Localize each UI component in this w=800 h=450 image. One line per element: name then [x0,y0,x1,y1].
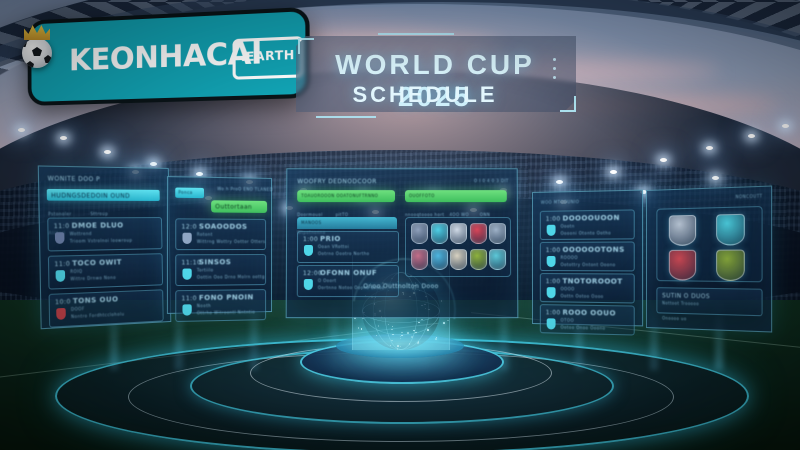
globe-particle [361,328,363,330]
match-time: 12:0 [181,222,196,232]
panel-main-dashboard[interactable]: WOOFRY DEDNODCOOR O I 0 4 0 3 DIT TOAUOR… [286,168,519,318]
globe-particle [436,337,438,339]
match-subtitle: Ooan VRottoi [318,244,349,251]
globe-particle [401,332,403,334]
match-time: 1:00 [546,246,561,256]
globe-particle [392,334,394,336]
match-detail: Oottin Ooo Drno Molrn oottg [197,274,265,281]
match-subtitle: Tortiilo [197,267,214,274]
match-time: 1:00 [546,215,561,225]
match-row[interactable]: 12:0SOAOODOSRotontWittrng Wottry Oottor … [175,218,266,250]
team-crest-icon [182,304,191,315]
team-crest-icon[interactable] [431,223,448,244]
team-crest-icon[interactable] [489,249,506,270]
globe-particle [397,348,399,350]
floodlight-icon [748,134,755,138]
globe-particle [443,322,445,324]
panel-left-search-text: HUDNGSDEDOIN OUND [51,191,130,202]
team-crest-icon [55,232,65,244]
panel-left-header: WONITE DOO P [48,174,101,185]
floodlight-icon [610,170,617,174]
panel-far-header: NONCOUTT [735,193,762,201]
panel-left2-green-pill[interactable]: Outtortaan [211,200,267,213]
team-crest-icon[interactable] [431,249,448,270]
floodlight-icon [556,180,563,184]
soccer-ball-icon [22,38,52,68]
brand-tld-text: .EARTH [238,48,298,65]
main-crest-grid[interactable] [405,217,511,277]
match-time: 11:0 [54,222,70,233]
globe-particle [427,329,429,331]
panel-right-header: WOO MTOOUNIO [541,199,579,207]
match-time: 1:00 [546,277,561,287]
main-green-bar-right[interactable]: OUOFFOTO [405,190,507,202]
match-subtitle: Wottrend [70,231,92,238]
globe-particle [392,326,394,328]
far-crest-grid[interactable] [656,206,762,282]
match-time: 11:0 [181,294,196,305]
globe-particle [413,330,415,332]
title-accent-line [316,116,376,118]
far-note-sub: Nottoot Trooooo [662,300,699,308]
panel-left2-tag[interactable]: Ponca [175,187,204,198]
match-subtitle: Rotont [197,232,213,239]
globe-particle [397,345,399,347]
match-subtitle: ROOOO [561,255,578,262]
floodlight-icon [150,162,157,166]
globe-particle [388,324,390,326]
main-section-header-text: MANOOS [301,220,321,227]
panel-left-row-list: 11:0DMOE DLUOWottrendTrioom Vstrolnoi lo… [39,167,168,169]
main-section-header[interactable]: MANOOS [297,217,397,229]
match-detail: Ottrho Witroontl Nntntio [197,309,255,317]
menu-dots-icon[interactable] [553,58,556,85]
panel-left-search-bar[interactable]: HUDNGSDEDOIN OUND [47,189,160,201]
panel-fixtures-left[interactable]: WONITE DOO P HUDNGSDEDOIN OUND Pstonoler… [38,165,172,329]
globe-particle [417,342,419,344]
team-crest-icon[interactable] [411,223,428,244]
globe-particle [411,336,413,338]
team-crest-icon [304,279,313,290]
globe-particle [418,322,420,324]
globe-particle [447,320,449,322]
team-crest-icon[interactable] [450,249,467,270]
match-row[interactable]: 11:0TOCO OWITROIQWittre Drnwo Nono [48,253,163,289]
globe-particle [376,335,378,337]
crest-striped-shield-icon[interactable] [669,250,696,281]
main-green-bar-left-text: TOAUOROOON OOATONUFTRNNO [301,193,378,200]
globe-particle [391,340,393,342]
team-crest-icon [182,233,191,244]
globe-particle [421,319,423,321]
match-detail: Trioom Vstrolnoi loowroup [70,238,133,246]
match-row[interactable]: 1:00DOOOOUOONOootnOoooni Otonto Ootho [540,209,635,240]
match-detail: Wittre Drnwo Nono [70,275,116,284]
globe-particle [400,338,402,340]
match-row[interactable]: 11:0DMOE DLUOWottrendTrioom Vstrolnoi lo… [47,217,162,251]
team-crest-icon [547,256,556,267]
globe-particle [358,327,360,329]
team-crest-icon[interactable] [411,249,428,270]
globe-particle [391,329,393,331]
floodlight-icon [18,128,25,132]
team-crest-icon [304,245,313,256]
match-row[interactable]: 1:00TNOTOROOOTOOOOOottn Ootoo Oooo [540,273,635,303]
far-note-box[interactable]: SUTIN O DUOS Nottoot Trooooo [656,287,762,316]
panel-left2-tag-text: Ponca [178,190,192,197]
match-row[interactable]: 11:10SINSOSTortiiloOottin Ooo Drno Molrn… [175,254,266,286]
team-crest-icon [56,270,66,282]
match-time: 1:00 [546,308,561,319]
floodlight-icon [660,158,667,162]
main-panel-header: WOOFRY DEDNODCOOR [297,177,376,187]
panel-fixtures-left2[interactable]: Ponca Wo h ProO ENO TLANED Outtortaan 12… [167,176,272,314]
brand-tld-box: .EARTH [232,36,303,80]
floodlight-icon [782,124,789,128]
crest-shield-eagle-icon[interactable] [669,215,696,246]
match-subtitle: Oootn [561,224,575,231]
match-detail: Ooooni Otonto Ootho [561,230,612,237]
crest-green-dragon-icon[interactable] [716,250,745,282]
globe-particle [407,332,409,334]
globe-particle [409,343,411,345]
team-crest-icon [56,308,66,320]
title-accent-line [378,33,454,35]
globe-particle [401,335,403,337]
match-time: 1:00 [303,235,318,245]
match-time: 11:0 [54,259,70,270]
panel-left2-green-pill-text: Outtortaan [215,202,252,213]
match-detail: Ootrno Oootro Northo [318,251,370,258]
crest-circle-mountain-icon[interactable] [716,214,745,246]
floodlight-icon [196,172,203,176]
match-row[interactable]: 1:00OOOOOOTONSROOOOOotottry Ontont Ooono [540,241,635,271]
team-crest-icon[interactable] [470,249,487,270]
globe-particle [435,338,437,340]
brand-logo-badge[interactable]: KEONHACAI .EARTH [28,7,310,106]
match-row[interactable]: 1:00ROOO OOUOOTOOOotoo Onoo Ooono [540,304,635,335]
team-crest-icon [547,287,556,298]
team-crest-icon [182,269,191,280]
floodlight-icon [104,150,111,154]
globe-particle [400,346,402,348]
crest-collection [657,207,761,210]
match-subtitle: OOOO [561,286,575,293]
team-crest-icon[interactable] [489,223,506,244]
globe-particle [415,332,417,334]
floodlight-icon [712,176,719,180]
far-note-link[interactable]: Onoooo uo [662,315,687,323]
match-detail: Ootoo Onoo Ooono [561,325,606,333]
panel-teams-far-right[interactable]: NONCOUTT SUTIN O DUOS Nottoot Trooooo On… [646,185,772,332]
match-subtitle: Nooth [197,303,211,310]
floodlight-icon [60,136,67,140]
team-crest-icon[interactable] [450,223,467,244]
main-green-bar-left[interactable]: TOAUOROOON OOATONUFTRNNO [297,190,395,202]
match-detail: Nontro Fordhtccloholu [71,311,124,321]
globe-particle [390,345,392,347]
match-detail: Ootottry Ontont Ooono [561,262,616,269]
match-detail: Wittrng Wottry Oottor Otters [197,239,266,246]
panel-left2-row-list: 12:0SOAOODOSRotontWittrng Wottry Oottor … [168,177,271,179]
match-time: 10:0 [55,297,71,308]
main-green-bar-right-text: OUOFFOTO [409,193,435,200]
panel-left2-sub-label: Wo h ProO ENO TLANED [217,186,273,194]
main-panel-badge: O I 0 4 0 3 DIT [474,178,509,185]
main-footer-caption: Onoo Outtnolton Dooo [316,282,486,292]
team-crest-icon [547,225,556,236]
poster-root: WONITE DOO P HUDNGSDEDOIN OUND Pstonoler… [0,0,800,450]
globe-particle [378,325,380,327]
match-row[interactable]: 11:0FONO PNOINNoothOttrho Witroontl Nntn… [175,289,266,322]
floodlight-icon [706,146,713,150]
match-row[interactable]: 1:00PRIOOoan VRottoiOotrno Oootro Northo [297,231,399,263]
match-row[interactable]: 10:0TONS OUODOOFNontro Fordhtccloholu [49,289,164,327]
page-subtitle: SCHEDULE [300,82,550,108]
panel-fixtures-right[interactable]: WOO MTOOUNIO 1:00DOOOOUOONOootnOoooni Ot… [532,190,643,327]
match-detail: Oottn Ootoo Oooo [561,293,604,300]
match-subtitle: OTOO [561,318,574,325]
team-crest-icon[interactable] [470,223,487,244]
team-crest-icon [547,318,556,329]
panel-right-row-list: 1:00DOOOOUOONOootnOoooni Otonto Ootho1:0… [533,191,642,193]
